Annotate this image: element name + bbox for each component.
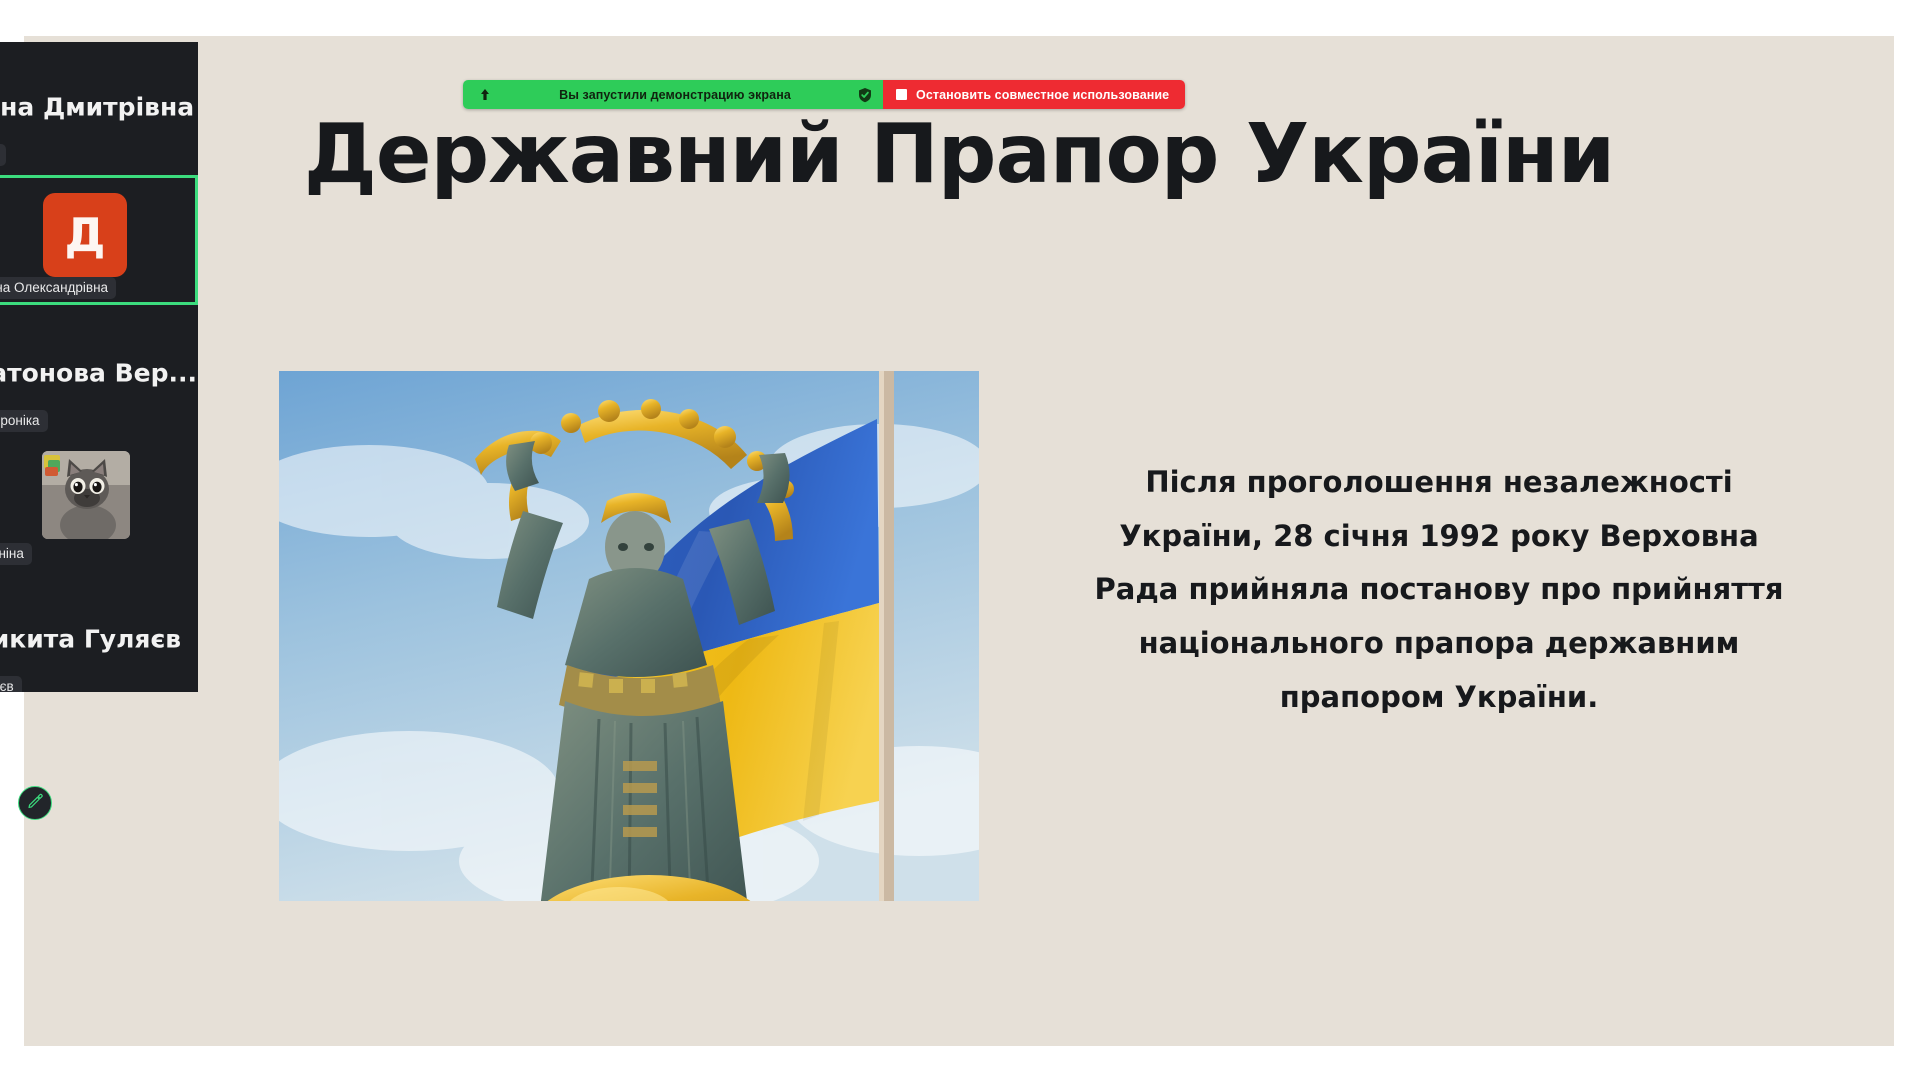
participant-tile-platonova[interactable]: Платонова Вер... латонова Вероніка [0,308,198,438]
stop-square-icon [896,89,907,100]
participant-tile-diana-selected[interactable]: Д лавська Діана Олександрівна [0,175,198,305]
participant-display-name: Микита Гуляєв [0,625,198,654]
body-line-4: національного прапора державним [1044,617,1834,671]
shield-check-icon[interactable] [857,87,873,103]
screen-share-banner[interactable]: Вы запустили демонстрацию экрана Останов… [463,80,1185,109]
stop-sharing-button[interactable]: Остановить совместное использование [883,80,1185,109]
share-status-text: Вы запустили демонстрацию экрана [493,88,857,102]
participant-name-label: латонова Вероніка [0,410,48,432]
slide-body-text: Після проголошення незалежності України,… [1044,456,1834,724]
participant-display-name: Аліна Дмитрівна [0,93,198,122]
participant-name-label: а Дмитрівна [0,144,6,166]
participant-tile-antonina[interactable]: уденко Антоніна [0,441,198,571]
slide-title: Державний Прапор України [24,114,1894,196]
participant-display-name: Платонова Вер... [0,359,198,388]
slide-image-monument-flag [279,371,979,901]
participant-name-label: уденко Антоніна [0,543,32,565]
participant-name-label: лавська Діана Олександрівна [0,277,116,299]
body-line-2: України, 28 січня 1992 року Верховна [1044,510,1834,564]
annotate-button[interactable] [18,786,52,820]
body-line-3: Рада прийняла постанову про прийняття [1044,563,1834,617]
avatar-initial: Д [43,193,127,277]
pencil-annotate-icon [27,792,44,814]
share-status-area[interactable]: Вы запустили демонстрацию экрана [463,80,883,109]
body-line-1: Після проголошення незалежності [1044,456,1834,510]
participant-tile-mykyta[interactable]: Микита Гуляєв Микита Гуляєв [0,574,198,692]
participant-sidebar[interactable]: Аліна Дмитрівна а Дмитрівна Д лавська Ді… [0,42,198,692]
body-line-5: прапором України. [1044,671,1834,725]
avatar [42,451,130,539]
participant-tile-alina[interactable]: Аліна Дмитрівна а Дмитрівна [0,42,198,172]
presentation-slide: Державний Прапор України [24,36,1894,1046]
upload-arrow-icon [477,87,493,103]
screen-root: Державний Прапор України [0,0,1920,1080]
participant-name-label: Микита Гуляєв [0,676,22,692]
stop-sharing-label: Остановить совместное использование [916,88,1169,102]
